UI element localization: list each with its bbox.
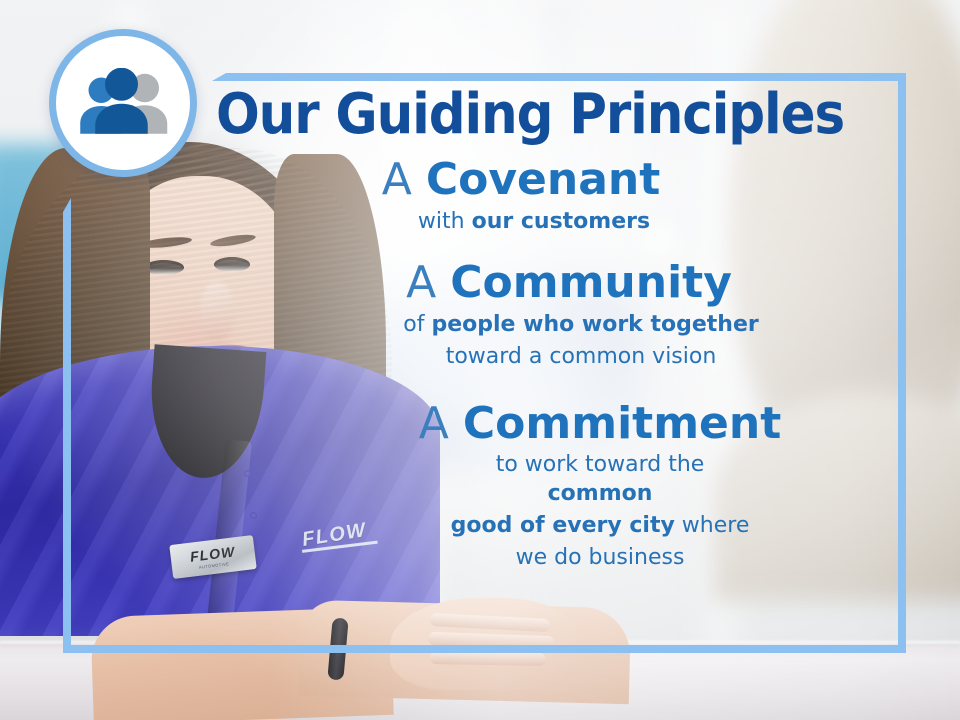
sub-plain-after: where	[675, 513, 750, 538]
sub-bold: good of every city	[451, 513, 675, 538]
sub-bold: our customers	[472, 209, 651, 234]
sub-plain: to work toward the	[496, 452, 705, 477]
frame-top-border	[212, 73, 906, 81]
article-word: A	[406, 257, 436, 308]
sub-plain: toward a common vision	[446, 344, 717, 369]
subject-eye	[144, 260, 184, 275]
principle-community-heading: A Community	[258, 260, 880, 307]
sub-bold: common	[548, 481, 653, 506]
sub-plain: we do business	[516, 545, 685, 570]
sub-plain: of	[403, 312, 431, 337]
principle-word: Community	[450, 257, 732, 308]
principle-community: A Community of people who work together …	[180, 260, 880, 371]
article-word: A	[419, 398, 449, 449]
copy-block: Our Guiding Principles A Covenant with o…	[180, 86, 880, 572]
article-word: A	[382, 154, 412, 205]
guiding-principles-graphic: FLOW AUTOMOTIVE FLOW Our Guid	[0, 0, 960, 720]
subject-finger	[430, 651, 546, 666]
principle-community-line-1: of people who work together	[258, 311, 880, 339]
page-title: Our Guiding Principles	[208, 86, 852, 143]
principle-word: Commitment	[463, 398, 781, 449]
principle-commitment: A Commitment to work toward the common g…	[180, 401, 880, 572]
principle-word: Covenant	[426, 154, 660, 205]
frame-bottom-border	[63, 645, 906, 653]
principle-commitment-line-3: we do business	[320, 544, 750, 572]
principle-commitment-line-1: to work toward the common	[320, 451, 750, 507]
principle-commitment-heading: A Commitment	[320, 401, 880, 448]
principle-commitment-line-2: good of every city where	[320, 512, 750, 540]
principle-covenant: A Covenant with our customers	[180, 157, 880, 236]
people-group-badge	[49, 29, 197, 177]
principle-covenant-heading: A Covenant	[180, 157, 862, 204]
sub-plain: with	[418, 209, 472, 234]
principle-covenant-line-1: with our customers	[180, 208, 862, 236]
frame-right-border	[898, 73, 906, 653]
frame-left-border	[63, 198, 71, 653]
principle-community-line-2: toward a common vision	[258, 343, 880, 371]
people-group-icon	[75, 68, 171, 138]
sub-bold: people who work together	[431, 312, 758, 337]
